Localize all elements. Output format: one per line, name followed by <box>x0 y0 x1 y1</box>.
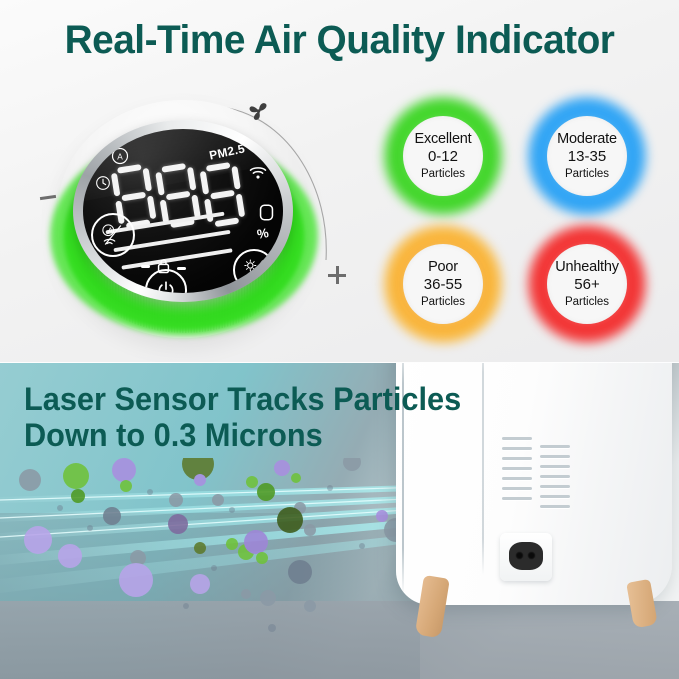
air-purifier-control-panel: PM2.5 % <box>18 78 348 353</box>
page-title: Real-Time Air Quality Indicator <box>10 16 669 64</box>
light-filter-button[interactable] <box>233 249 275 291</box>
housing-seam-right <box>482 363 484 575</box>
badge-moderate: Moderate 13-35 Particles <box>527 96 647 216</box>
filter-icon <box>258 203 275 222</box>
wifi-icon <box>249 165 267 181</box>
lock-dash-left <box>141 265 150 268</box>
figure-8-power-socket[interactable] <box>509 542 543 570</box>
bottom-section: Laser Sensor Tracks Particles Down to 0.… <box>0 363 679 679</box>
badge-range: 0-12 <box>414 149 471 166</box>
badge-level: Unhealthy <box>555 259 619 275</box>
power-socket-plate <box>500 533 552 581</box>
bottom-title: Laser Sensor Tracks Particles Down to 0.… <box>24 381 461 453</box>
percent-label: % <box>256 225 270 242</box>
auto-wifi-icon: A <box>100 222 126 248</box>
light-filter-icon <box>242 258 267 283</box>
lock-dash-right <box>177 267 186 270</box>
badge-unit: Particles <box>557 168 617 181</box>
badge-unit: Particles <box>421 296 465 309</box>
badge-text: Poor 36-55 Particles <box>421 259 465 309</box>
badge-unit: Particles <box>555 296 619 309</box>
fan-blade-icon <box>246 100 272 124</box>
badge-excellent: Excellent 0-12 Particles <box>383 96 503 216</box>
badge-range: 13-35 <box>557 149 617 166</box>
badge-unhealthy: Unhealthy 56+ Particles <box>527 224 647 344</box>
socket-pin-left <box>515 551 524 560</box>
badge-text: Excellent 0-12 Particles <box>414 131 471 181</box>
badge-level: Moderate <box>557 131 617 147</box>
svg-text:A: A <box>117 152 123 161</box>
badge-poor: Poor 36-55 Particles <box>383 224 503 344</box>
top-section: Real-Time Air Quality Indicator PM2.5 % <box>0 0 679 363</box>
socket-pin-right <box>527 551 536 560</box>
badge-level: Excellent <box>414 131 471 147</box>
badge-level: Poor <box>421 259 465 275</box>
display-screen: PM2.5 % <box>83 129 283 293</box>
fan-speed-minus[interactable] <box>40 195 56 200</box>
fan-speed-plus[interactable] <box>328 266 346 284</box>
badge-range: 56+ <box>555 277 619 294</box>
vent-grille <box>502 437 578 511</box>
badge-text: Unhealthy 56+ Particles <box>555 259 619 309</box>
power-icon <box>156 280 176 293</box>
infographic-page: Real-Time Air Quality Indicator PM2.5 % <box>0 0 679 679</box>
air-quality-legend: Excellent 0-12 Particles Moderate 13-35 … <box>381 96 667 344</box>
auto-icon: A <box>111 147 129 165</box>
badge-range: 36-55 <box>421 277 465 294</box>
display-bezel: PM2.5 % <box>73 120 293 302</box>
power-button[interactable] <box>145 269 187 293</box>
badge-unit: Particles <box>414 168 471 181</box>
auto-wifi-button[interactable]: A <box>91 213 135 257</box>
badge-text: Moderate 13-35 Particles <box>557 131 617 181</box>
timer-icon <box>95 175 111 191</box>
